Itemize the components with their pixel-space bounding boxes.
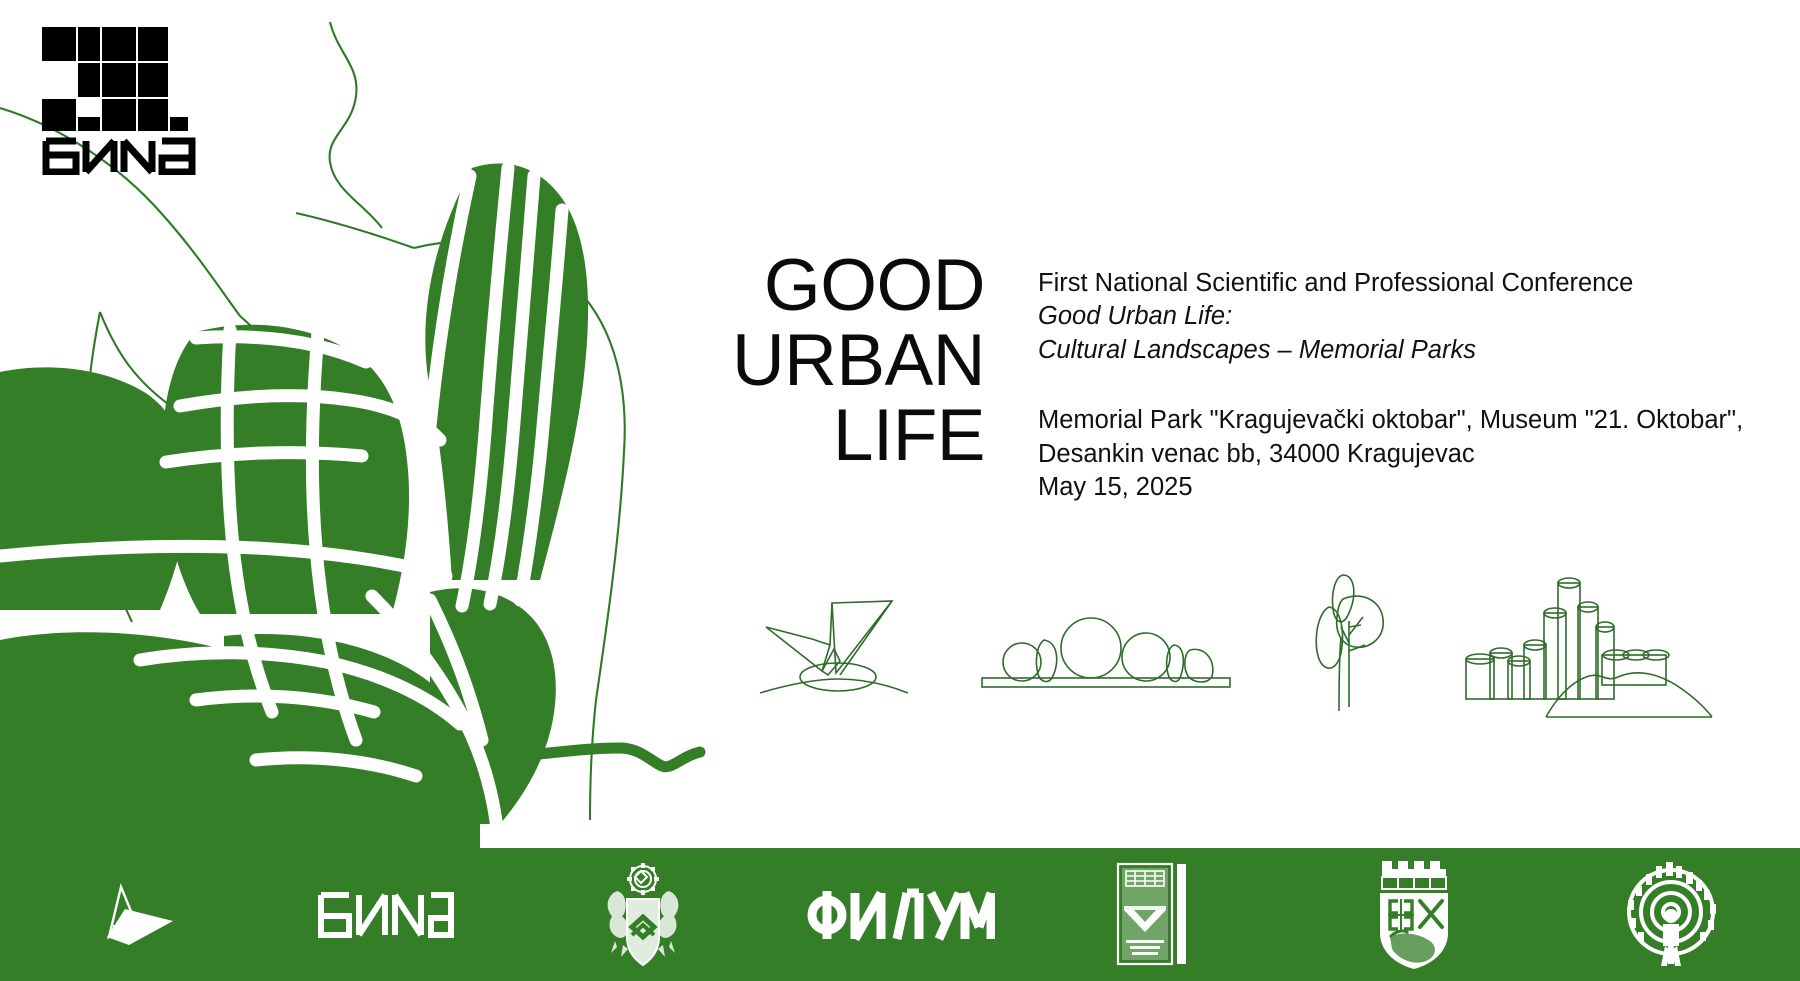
sponsor-footer-bar — [0, 848, 1800, 981]
faculty-crest-icon — [595, 861, 691, 969]
city-circle-icon — [1616, 860, 1726, 970]
page-title: GOOD URBAN LIFE — [600, 248, 985, 474]
conference-details: First National Scientific and Profession… — [1038, 267, 1728, 504]
footer-logo-memorial-park[interactable] — [1029, 848, 1286, 981]
v-monument-icon — [760, 587, 910, 697]
conference-label: First National Scientific and Profession… — [1038, 267, 1728, 300]
footer-logo-filum-wordmark[interactable] — [771, 848, 1028, 981]
filum-wordmark-icon — [805, 885, 995, 945]
bina-21-logo[interactable] — [42, 27, 202, 175]
venue-line-1: Memorial Park "Kragujevački oktobar", Mu… — [1038, 404, 1728, 437]
footer-logo-bina-mark[interactable] — [0, 848, 257, 981]
sketch-tree-icon — [1305, 565, 1415, 715]
logo-bina-wordmark — [46, 141, 192, 172]
logo-number-21-blocks — [42, 27, 188, 131]
conference-title-line-2: Cultural Landscapes – Memorial Parks — [1038, 334, 1728, 367]
bina-wordmark-icon — [316, 887, 456, 943]
memorial-park-icon — [1114, 862, 1200, 968]
tree-row-icon — [978, 600, 1234, 695]
city-skyline-icon — [1460, 565, 1720, 720]
footer-logo-faculty-crest[interactable] — [514, 848, 771, 981]
venue-line-2: Desankin venac bb, 34000 Kragujevac — [1038, 438, 1728, 471]
illustration-strip — [760, 565, 1760, 745]
event-date: May 15, 2025 — [1038, 471, 1728, 504]
conference-poster: GOOD URBAN LIFE First National Scientifi… — [0, 0, 1800, 981]
footer-logo-city-circle[interactable] — [1543, 848, 1800, 981]
footer-logo-kragujevac-arms[interactable] — [1286, 848, 1543, 981]
map-green-road — [520, 748, 700, 767]
kragujevac-coat-of-arms-icon — [1368, 859, 1460, 971]
footer-logo-bina-wordmark[interactable] — [257, 848, 514, 981]
bina-mark-icon — [79, 881, 179, 949]
conference-title-line-1: Good Urban Life: — [1038, 300, 1728, 333]
